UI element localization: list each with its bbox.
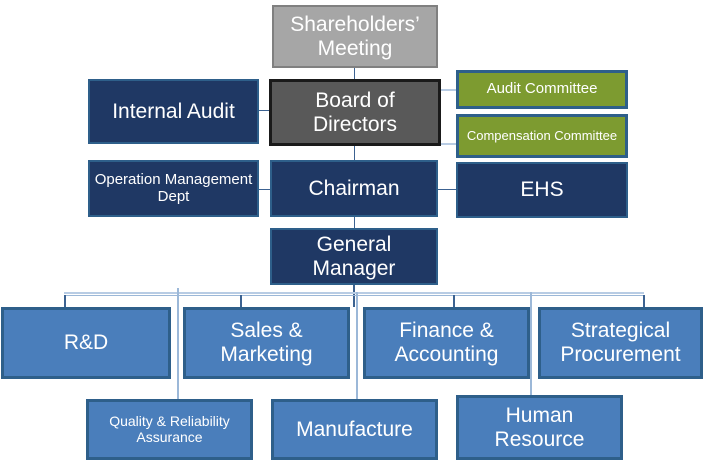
node-compensation-committee[interactable]: Compensation Committee (456, 114, 628, 158)
node-ehs[interactable]: EHS (456, 162, 628, 218)
connector-board-to-chairman (354, 146, 355, 161)
node-rnd[interactable]: R&D (1, 307, 171, 379)
connector-bus-to-manufacture (356, 292, 358, 399)
node-manufacture[interactable]: Manufacture (271, 399, 438, 460)
connector-gm-drop (353, 285, 355, 307)
connector-bus-to-strategical-procurement (643, 295, 645, 307)
connector-bus-upper (64, 295, 644, 296)
node-shareholders-meeting[interactable]: Shareholders’ Meeting (272, 5, 438, 68)
node-audit-committee[interactable]: Audit Committee (456, 70, 628, 109)
node-general-manager[interactable]: General Manager (270, 228, 438, 285)
connector-bus-lower (64, 292, 644, 294)
connector-chairman-to-general-manager (354, 216, 355, 228)
node-sales-marketing[interactable]: Sales & Marketing (183, 307, 350, 379)
connector-bus-to-quality-assurance (177, 288, 179, 399)
node-strategical-procurement[interactable]: Strategical Procurement (538, 307, 703, 379)
node-operation-management-dept[interactable]: Operation Management Dept (88, 160, 259, 217)
connector-bus-to-finance-accounting (453, 295, 455, 307)
org-chart: Shareholders’ Meeting Internal Audit Boa… (0, 0, 709, 466)
connector-bus-to-human-resource (530, 292, 532, 395)
connector-bus-to-rnd (64, 295, 66, 307)
connector-chairman-to-ehs (438, 189, 456, 190)
node-finance-accounting[interactable]: Finance & Accounting (363, 307, 530, 379)
node-internal-audit[interactable]: Internal Audit (88, 79, 259, 144)
node-human-resource[interactable]: Human Resource (456, 395, 623, 460)
node-chairman[interactable]: Chairman (270, 160, 438, 217)
node-quality-reliability-assurance[interactable]: Quality & Reliability Assurance (86, 399, 253, 460)
node-board-of-directors[interactable]: Board of Directors (269, 79, 441, 146)
connector-bus-to-sales-marketing (240, 295, 242, 307)
